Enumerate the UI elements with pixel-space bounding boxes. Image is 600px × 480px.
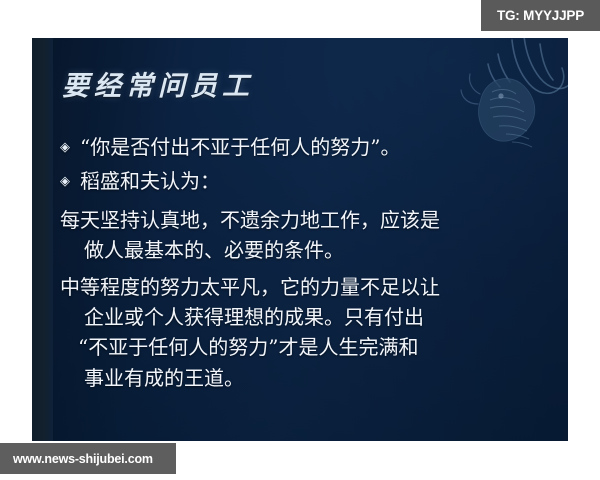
list-item-label: 稻盛和夫认为： <box>80 164 556 198</box>
slide-canvas: 要经常问员工 ◈ “你是否付出不亚于任何人的努力”。 ◈ 稻盛和夫认为： 每天坚… <box>32 38 568 441</box>
slide-body: ◈ “你是否付出不亚于任何人的努力”。 ◈ 稻盛和夫认为： 每天坚持认真地，不遗… <box>56 130 556 393</box>
paragraph-line: “不亚于任何人的努力”才是人生完满和 <box>60 332 556 362</box>
tg-badge-label: TG: MYYJJPP <box>497 8 584 23</box>
list-item: ◈ 稻盛和夫认为： <box>60 164 556 198</box>
diamond-bullet-icon: ◈ <box>60 175 80 188</box>
paragraph: 中等程度的努力太平凡，它的力量不足以让 企业或个人获得理想的成果。只有付出 “不… <box>56 272 556 394</box>
slide-left-accent-band <box>32 38 53 441</box>
paragraph: 每天坚持认真地，不遗余力地工作，应该是 做人最基本的、必要的条件。 <box>56 205 556 266</box>
watermark-label: www.news-shijubei.com <box>13 452 153 466</box>
paragraph-line: 企业或个人获得理想的成果。只有付出 <box>60 302 556 332</box>
tg-badge: TG: MYYJJPP <box>481 0 600 31</box>
paragraph-line: 中等程度的努力太平凡，它的力量不足以让 <box>60 275 440 299</box>
paragraph-line: 做人最基本的、必要的条件。 <box>60 235 556 265</box>
watermark: www.news-shijubei.com <box>0 443 176 474</box>
paragraph-line: 事业有成的王道。 <box>60 363 556 393</box>
list-item: ◈ “你是否付出不亚于任何人的努力”。 <box>60 130 556 164</box>
page-title: 要经常问员工 <box>62 64 254 103</box>
list-item-label: “你是否付出不亚于任何人的努力”。 <box>80 130 556 164</box>
diamond-bullet-icon: ◈ <box>60 141 80 154</box>
paragraph-line: 每天坚持认真地，不遗余力地工作，应该是 <box>60 208 440 232</box>
